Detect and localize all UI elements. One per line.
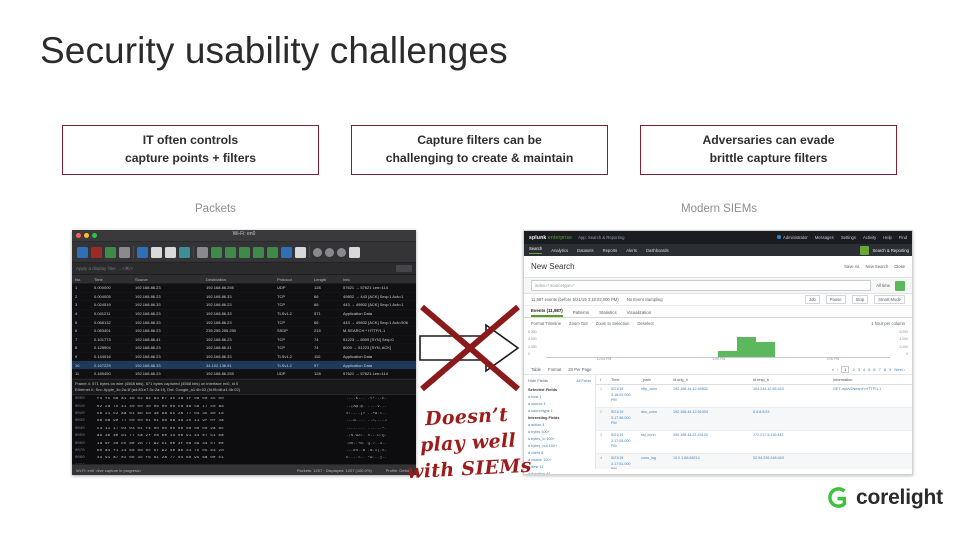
field-item[interactable]: # bytes_out 100+ bbox=[528, 443, 591, 450]
th-resp[interactable]: id.resp_h bbox=[749, 377, 829, 382]
chart-bar[interactable] bbox=[756, 342, 775, 357]
splunk-page-header: New Search Save As New Search Close bbox=[524, 256, 912, 278]
col-source[interactable]: Source bbox=[132, 277, 203, 282]
splunk-logo[interactable]: splunk enterprise bbox=[529, 235, 572, 241]
col-length[interactable]: Length bbox=[311, 277, 340, 282]
tab-statistics[interactable]: Statistics bbox=[599, 310, 617, 317]
field-item[interactable]: a duration 44 bbox=[528, 471, 591, 475]
hex-row: 0040c3 11 17 03 03 01 f4 00 00 00 00 00 … bbox=[72, 425, 416, 432]
packet-len: 97 bbox=[311, 363, 340, 368]
y-tick: 2,000 bbox=[900, 345, 909, 349]
y-tick: 0 bbox=[906, 352, 908, 356]
packet-src: 192.168.86.23 bbox=[132, 371, 203, 376]
packet-info: Application Data bbox=[340, 354, 416, 359]
all-fields-button[interactable]: All Fields bbox=[576, 379, 591, 383]
toolbar-separator bbox=[309, 246, 310, 258]
cell-index: 1 bbox=[596, 387, 607, 407]
page-1[interactable]: 1 bbox=[841, 366, 849, 373]
event-sampling[interactable]: No Event Sampling bbox=[627, 297, 663, 302]
hex-offset: 0060 bbox=[72, 442, 97, 446]
hex-row: 0070b0 a4 f1 23 68 dd 0c 57 92 4e ab 31 … bbox=[72, 447, 416, 454]
tab-visualization[interactable]: Visualization bbox=[627, 310, 652, 317]
field-item[interactable]: a source 1 bbox=[528, 401, 591, 408]
job-button[interactable]: Job bbox=[805, 295, 820, 304]
hex-bytes: a9 3b 4e d1 77 5a 2f c8 6e 14 0b 91 44 e… bbox=[97, 434, 346, 438]
chart-y-axis-right: 6,000 4,000 2,000 0 bbox=[900, 330, 909, 356]
close-file-icon[interactable] bbox=[165, 247, 176, 258]
wireshark-status-bar: Wi-Fi: en0 <live capture in progress> Pa… bbox=[72, 464, 416, 475]
cell-index: 3 bbox=[596, 433, 607, 453]
open-file-icon[interactable] bbox=[137, 247, 148, 258]
packet-len: 74 bbox=[311, 337, 340, 342]
colorize-icon[interactable] bbox=[295, 247, 306, 258]
tab-events[interactable]: Events (11,987) bbox=[531, 308, 563, 317]
cell-orig[interactable]: 192.168.44.12:49832 bbox=[669, 387, 749, 407]
format-results-button[interactable]: Format bbox=[548, 367, 561, 372]
packet-no: 9 bbox=[72, 354, 91, 359]
packet-dst: 192.168.86.23 bbox=[203, 302, 274, 307]
packet-dst: 34.102.136.91 bbox=[203, 363, 274, 368]
handwritten-note: Doesn’t play well with SIEMs bbox=[401, 401, 535, 486]
callout-box-2: Capture filters can be challenging to cr… bbox=[351, 125, 608, 175]
callout-box-3-line2: brittle capture filters bbox=[710, 151, 828, 165]
splunk-fields-sidebar: Hide Fields All Fields Selected Fields a… bbox=[524, 375, 596, 469]
hex-bytes: b0 a4 f1 23 68 dd 0c 57 92 4e ab 31 7c 0… bbox=[97, 449, 346, 453]
stop-capture-icon[interactable] bbox=[91, 247, 102, 258]
page-first[interactable]: « bbox=[832, 367, 834, 372]
callout-box-2-line2: challenging to create & maintain bbox=[386, 151, 574, 165]
cell-index: 2 bbox=[596, 410, 607, 430]
close-button[interactable]: Close bbox=[894, 264, 905, 269]
packet-no: 5 bbox=[72, 320, 91, 325]
th-path[interactable]: _path bbox=[637, 377, 669, 382]
th-index: i bbox=[596, 377, 607, 382]
nav-alerts[interactable]: Alerts bbox=[626, 248, 637, 253]
packet-no: 11 bbox=[72, 371, 91, 376]
packet-info: 443 → 49802 [ACK] Seq=1 Ack=506 bbox=[340, 320, 416, 325]
packet-src: 192.168.86.41 bbox=[132, 337, 203, 342]
x-tick: 12:00 PM bbox=[597, 357, 612, 361]
packet-no: 10 bbox=[72, 363, 91, 368]
hex-offset: 0010 bbox=[72, 405, 97, 409]
page-2[interactable]: 2 bbox=[852, 367, 854, 372]
zoom-reset-icon[interactable] bbox=[337, 248, 346, 257]
page-8[interactable]: 8 bbox=[884, 367, 886, 372]
table-row[interactable]: 2 5/21/19 3:17:58.000 PM dns_conn 192.16… bbox=[596, 408, 912, 431]
hex-row: 0000f4 f5 d8 a1 4b 02 a4 83 e7 3c 2a 1f … bbox=[72, 396, 416, 403]
page-9[interactable]: 9 bbox=[889, 367, 891, 372]
search-query-input[interactable]: index=* sourcetype=* bbox=[531, 280, 871, 291]
y-tick: 6,000 bbox=[528, 330, 537, 334]
cell-info[interactable]: GET /api/v2/search HTTP/1.1 bbox=[829, 387, 912, 407]
toolbar-separator bbox=[133, 246, 134, 258]
hex-ascii: ....K... .<*...E. bbox=[346, 397, 416, 401]
go-back-icon[interactable] bbox=[211, 247, 222, 258]
nav-reports[interactable]: Reports bbox=[603, 248, 618, 253]
splunk-job-controls: Job Pause Stop Smart Mode bbox=[805, 295, 905, 304]
user-menu[interactable]: Administrator bbox=[777, 235, 808, 240]
time-range-picker[interactable]: All time bbox=[876, 283, 890, 288]
event-count-summary: 11,987 events (before 5/21/19 3:18:02.00… bbox=[531, 297, 619, 302]
hex-row: 008044 91 a7 e2 0b 3c f6 81 2a 77 d4 b8 … bbox=[72, 455, 416, 462]
packet-src: 192.168.86.33 bbox=[132, 363, 203, 368]
cell-resp[interactable]: 104.244.42.65:443 bbox=[749, 387, 829, 407]
field-item[interactable]: a dest 12 bbox=[528, 464, 591, 471]
chart-x-axis: 12:00 PM 1:00 PM 2:00 PM bbox=[546, 357, 890, 361]
cell-resp[interactable]: 52.94.236.248:443 bbox=[749, 456, 829, 469]
packet-dst: 192.168.86.23 bbox=[203, 320, 274, 325]
y-tick: 4,000 bbox=[900, 337, 909, 341]
hex-offset: 0070 bbox=[72, 449, 97, 453]
splunk-results-body: Hide Fields All Fields Selected Fields a… bbox=[524, 375, 912, 469]
hex-row: 002056 21 c2 8a 01 bb 5d 3e 8a 91 2b 77 … bbox=[72, 410, 416, 417]
wireshark-display-filter-bar[interactable]: Apply a display filter ... <⌘/> bbox=[72, 263, 416, 275]
hex-offset: 0000 bbox=[72, 397, 97, 401]
splunk-events-table: i Time _path id.orig_h id.resp_h Informa… bbox=[596, 375, 912, 469]
settings-menu[interactable]: Settings bbox=[841, 235, 856, 240]
packet-row[interactable]: 2 0.004005 192.168.86.23 192.168.86.33 T… bbox=[72, 293, 416, 302]
packet-row[interactable]: 7 0.101773 192.168.86.41 192.168.86.23 T… bbox=[72, 336, 416, 345]
hex-offset: 0040 bbox=[72, 427, 97, 431]
packet-no: 1 bbox=[72, 285, 91, 290]
field-list: a host 1 a source 1 a sourcetype 1 Inter… bbox=[528, 394, 591, 475]
packet-proto: TLSv1.2 bbox=[274, 311, 311, 316]
packet-row[interactable]: 5 0.068132 192.168.86.33 192.168.86.23 T… bbox=[72, 318, 416, 327]
chart-y-axis-left: 6,000 4,000 2,000 0 bbox=[528, 330, 537, 356]
chart-bars bbox=[546, 331, 890, 357]
selected-fields-title: Selected Fields bbox=[528, 387, 591, 392]
packet-time: 0.024519 bbox=[91, 302, 132, 307]
packet-info: 57621 → 57621 Len=114 bbox=[340, 285, 416, 290]
go-last-packet-icon[interactable] bbox=[267, 247, 278, 258]
field-group-title: Interesting Fields bbox=[528, 415, 591, 422]
packet-no: 8 bbox=[72, 345, 91, 350]
packet-info: 57621 → 57621 Len=114 bbox=[340, 371, 416, 376]
packet-dst: 192.168.86.33 bbox=[203, 311, 274, 316]
packet-row[interactable]: 8 0.128904 192.168.86.23 192.168.86.41 T… bbox=[72, 344, 416, 353]
packet-time: 0.189450 bbox=[91, 371, 132, 376]
run-search-button[interactable] bbox=[895, 281, 905, 291]
toolbar-separator bbox=[193, 246, 194, 258]
page-title: Security usability challenges bbox=[40, 30, 508, 72]
app-switcher-label: Search & Reporting bbox=[872, 248, 909, 253]
col-dest[interactable]: Destination bbox=[203, 277, 274, 282]
page-3[interactable]: 3 bbox=[858, 367, 860, 372]
packet-row[interactable]: 4 0.041211 192.168.86.23 192.168.86.33 T… bbox=[72, 310, 416, 319]
cell-path[interactable]: ssl_conn bbox=[637, 433, 669, 453]
hex-bytes: c3 11 17 03 03 01 f4 00 00 00 00 00 00 0… bbox=[97, 427, 346, 431]
cell-info[interactable] bbox=[829, 456, 912, 469]
cell-time[interactable]: 5/21/19 3:17:55.000 PM bbox=[607, 433, 637, 453]
new-search-button[interactable]: New Search bbox=[865, 264, 888, 269]
hex-bytes: 1d 6f 30 cc 8e 2b 77 a2 51 0e 3f 08 d9 3… bbox=[97, 442, 346, 446]
zoom-to-selection-button[interactable]: Zoom to Selection bbox=[596, 321, 630, 326]
nav-search[interactable]: Search bbox=[529, 246, 542, 254]
packet-no: 2 bbox=[72, 294, 91, 299]
packet-info: 443 → 49802 [ACK] Seq=1 Ack=1 bbox=[340, 302, 416, 307]
table-row[interactable]: 4 5/21/19 3:17:51.000 PM conn_log 10.0.1… bbox=[596, 454, 912, 469]
find-packet-icon[interactable] bbox=[197, 247, 208, 258]
hex-bytes: 02 2d 7c 41 40 00 40 06 00 00 c0 a8 56 1… bbox=[97, 405, 346, 409]
nav-datasets[interactable]: Datasets bbox=[577, 248, 594, 253]
cell-time[interactable]: 5/21/19 3:17:58.000 PM bbox=[607, 410, 637, 430]
list-view-button[interactable]: Table bbox=[531, 367, 541, 372]
smart-mode-button[interactable]: Smart Mode bbox=[874, 295, 905, 304]
packet-src: 192.168.86.23 bbox=[132, 345, 203, 350]
field-item[interactable]: a cookie 100+ bbox=[528, 457, 591, 464]
go-forward-icon[interactable] bbox=[225, 247, 236, 258]
search-query-value: index=* sourcetype=* bbox=[535, 283, 575, 288]
packet-src: 192.168.86.23 bbox=[132, 354, 203, 359]
packet-proto: TCP bbox=[274, 294, 311, 299]
packet-time: 0.144016 bbox=[91, 354, 132, 359]
x-tick: 1:00 PM bbox=[713, 357, 726, 361]
hex-bytes: f4 f5 d8 a1 4b 02 a4 83 e7 3c 2a 1f 08 0… bbox=[97, 397, 346, 401]
find-menu[interactable]: Find bbox=[899, 235, 907, 240]
packet-time: 0.083401 bbox=[91, 328, 132, 333]
page-prev[interactable]: ‹ bbox=[837, 367, 838, 372]
page-next[interactable]: Next › bbox=[894, 367, 905, 372]
y-tick: 6,000 bbox=[900, 330, 909, 334]
cell-index: 4 bbox=[596, 456, 607, 469]
packet-dst: 192.168.86.255 bbox=[203, 285, 274, 290]
hex-row: 003008 0a 9e 77 00 00 01 01 08 0a 3d 2c … bbox=[72, 418, 416, 425]
packet-len: 66 bbox=[311, 320, 340, 325]
hex-row: 0050a9 3b 4e d1 77 5a 2f c8 6e 14 0b 91 … bbox=[72, 432, 416, 439]
y-tick: 4,000 bbox=[528, 337, 537, 341]
packet-bytes-pane[interactable]: 0000f4 f5 d8 a1 4b 02 a4 83 e7 3c 2a 1f … bbox=[72, 395, 416, 475]
corelight-wordmark: corelight bbox=[856, 487, 943, 508]
page-6[interactable]: 6 bbox=[873, 367, 875, 372]
th-orig[interactable]: id.orig_h bbox=[669, 377, 749, 382]
field-item[interactable]: a client 8 bbox=[528, 450, 591, 457]
format-timeline-button[interactable]: Format Timeline bbox=[531, 321, 561, 326]
packet-detail-pane[interactable]: Frame 4: 571 bytes on wire (4568 bits), … bbox=[72, 379, 416, 395]
packet-list-header: No. Time Source Destination Protocol Len… bbox=[72, 275, 416, 284]
packet-info: 49802 → 443 [ACK] Seq=1 Ack=1 bbox=[340, 294, 416, 299]
app-icon bbox=[860, 246, 869, 255]
packet-info: Application Data bbox=[340, 311, 416, 316]
corelight-logo: corelight bbox=[826, 486, 943, 509]
field-item[interactable]: # bytes_in 100+ bbox=[528, 436, 591, 443]
packet-dst: 192.168.86.255 bbox=[203, 371, 274, 376]
packet-time: 0.101773 bbox=[91, 337, 132, 342]
nav-analytics[interactable]: Analytics bbox=[551, 248, 568, 253]
packet-proto: TLSv1.2 bbox=[274, 354, 311, 359]
packet-time: 0.041211 bbox=[91, 311, 132, 316]
start-capture-icon[interactable] bbox=[77, 247, 88, 258]
hex-offset: 0030 bbox=[72, 419, 97, 423]
col-no[interactable]: No. bbox=[72, 277, 91, 282]
packet-src: 192.168.86.23 bbox=[132, 328, 203, 333]
packet-list[interactable]: 1 0.000000 192.168.86.23 192.168.86.255 … bbox=[72, 284, 416, 379]
cell-orig[interactable]: 192.168.44.31:44120 bbox=[669, 433, 749, 453]
cell-info[interactable] bbox=[829, 410, 912, 430]
table-row[interactable]: 3 5/21/19 3:17:55.000 PM ssl_conn 192.16… bbox=[596, 431, 912, 454]
hex-bytes: 56 21 c2 8a 01 bb 5d 3e 8a 91 2b 77 04 3… bbox=[97, 412, 346, 416]
status-capture-info: Wi-Fi: en0 <live capture in progress> bbox=[76, 468, 141, 473]
incompatibility-mark bbox=[414, 303, 526, 393]
cell-resp[interactable]: 172.217.5.110:443 bbox=[749, 433, 829, 453]
packet-proto: TCP bbox=[274, 337, 311, 342]
packet-len: 66 bbox=[311, 302, 340, 307]
packet-row[interactable]: 6 0.083401 192.168.86.23 239.255.255.250… bbox=[72, 327, 416, 336]
field-item[interactable]: a host 1 bbox=[528, 394, 591, 401]
field-item[interactable]: a action 4 bbox=[528, 422, 591, 429]
x-tick: 2:00 PM bbox=[827, 357, 840, 361]
cell-orig[interactable]: 192.168.44.12:51004 bbox=[669, 410, 749, 430]
packet-no: 7 bbox=[72, 337, 91, 342]
hex-bytes: 08 0a 9e 77 00 00 01 01 08 0a 3d 2c 11 9… bbox=[97, 419, 346, 423]
hex-offset: 0050 bbox=[72, 434, 97, 438]
zoom-in-icon[interactable] bbox=[313, 248, 322, 257]
splunk-top-bar: splunk enterprise App: Search & Reportin… bbox=[524, 231, 912, 244]
timeline-scale-label: 1 hour per column bbox=[871, 321, 905, 326]
user-avatar-icon bbox=[777, 235, 781, 239]
field-item[interactable]: # bytes 100+ bbox=[528, 429, 591, 436]
hex-offset: 0080 bbox=[72, 456, 97, 460]
cell-info[interactable] bbox=[829, 433, 912, 453]
status-packet-counts: Packets: 1207 · Displayed: 1207 (100.0%) bbox=[297, 468, 372, 473]
packet-row[interactable]: 1 0.000000 192.168.86.23 192.168.86.255 … bbox=[72, 284, 416, 293]
callout-box-1: IT often controls capture points + filte… bbox=[62, 125, 319, 175]
splunk-screenshot: splunk enterprise App: Search & Reportin… bbox=[523, 230, 913, 475]
deselect-button[interactable]: Deselect bbox=[637, 321, 653, 326]
packet-no: 3 bbox=[72, 302, 91, 307]
activity-menu[interactable]: Activity bbox=[863, 235, 876, 240]
help-menu[interactable]: Help bbox=[883, 235, 892, 240]
packet-dst: 192.168.86.41 bbox=[203, 345, 274, 350]
page-4[interactable]: 4 bbox=[863, 367, 865, 372]
packet-len: 571 bbox=[311, 311, 340, 316]
splunk-header-actions: Save As New Search Close bbox=[844, 264, 905, 269]
packet-detail-line[interactable]: Ethernet II, Src: Apple_3c:2a:1f (a4:83:… bbox=[75, 387, 413, 393]
packet-info: 8009 → 51223 [SYN, ACK] bbox=[340, 345, 416, 350]
packet-src: 192.168.86.33 bbox=[132, 320, 203, 325]
splunk-result-tabs: Events (11,987) Patterns Statistics Visu… bbox=[524, 306, 912, 318]
packet-len: 128 bbox=[311, 285, 340, 290]
splunk-results-pager: Table Format 20 Per Page « ‹ 1 2 3 4 5 6… bbox=[524, 364, 912, 375]
events-timeline-chart[interactable]: 6,000 4,000 2,000 0 6,000 4,000 2,000 0 … bbox=[524, 328, 912, 364]
col-time[interactable]: Time bbox=[91, 277, 132, 282]
packet-len: 74 bbox=[311, 345, 340, 350]
nav-dashboards[interactable]: Dashboards bbox=[646, 248, 669, 253]
packet-info: M-SEARCH * HTTP/1.1 bbox=[340, 328, 416, 333]
page-5[interactable]: 5 bbox=[868, 367, 870, 372]
wireshark-screenshot: Wi-Fi: en0 bbox=[72, 230, 416, 475]
cell-path[interactable]: conn_log bbox=[637, 456, 669, 469]
packet-no: 6 bbox=[72, 328, 91, 333]
capture-options-icon[interactable] bbox=[119, 247, 130, 258]
hide-fields-button[interactable]: Hide Fields bbox=[528, 378, 548, 383]
hex-bytes: 44 91 a7 e2 0b 3c f6 81 2a 77 d4 b8 95 6… bbox=[97, 456, 346, 460]
splunk-timeline-controls: Format Timeline Zoom Out Zoom to Selecti… bbox=[524, 318, 912, 328]
hex-row: 00601d 6f 30 cc 8e 2b 77 a2 51 0e 3f 08 … bbox=[72, 440, 416, 447]
reload-file-icon[interactable] bbox=[179, 247, 190, 258]
packet-proto: SSDP bbox=[274, 328, 311, 333]
th-info[interactable]: Information bbox=[829, 377, 912, 382]
caption-modern-siems: Modern SIEMs bbox=[681, 203, 757, 215]
packet-proto: UDP bbox=[274, 371, 311, 376]
cell-path[interactable]: dns_conn bbox=[637, 410, 669, 430]
packet-dst: 192.168.86.33 bbox=[203, 354, 274, 359]
save-file-icon[interactable] bbox=[151, 247, 162, 258]
page-7[interactable]: 7 bbox=[879, 367, 881, 372]
splunk-top-right-menu: Administrator Messages Settings Activity… bbox=[777, 235, 907, 240]
app-switcher-button[interactable]: Search & Reporting bbox=[860, 246, 909, 255]
pause-button[interactable]: Pause bbox=[826, 295, 846, 304]
packet-time: 0.004005 bbox=[91, 294, 132, 299]
auto-scroll-icon[interactable] bbox=[281, 247, 292, 258]
table-header-row: i Time _path id.orig_h id.resp_h Informa… bbox=[596, 375, 912, 385]
packet-proto: UDP bbox=[274, 285, 311, 290]
cell-path[interactable]: http_conn bbox=[637, 387, 669, 407]
per-page-button[interactable]: 20 Per Page bbox=[568, 367, 591, 372]
col-info[interactable]: Info bbox=[340, 277, 416, 282]
save-as-button[interactable]: Save As bbox=[844, 264, 859, 269]
callout-box-2-line1: Capture filters can be bbox=[417, 133, 542, 147]
packet-row[interactable]: 11 0.189450 192.168.86.23 192.168.86.255… bbox=[72, 370, 416, 379]
stop-button[interactable]: Stop bbox=[852, 295, 869, 304]
packet-len: 128 bbox=[311, 371, 340, 376]
y-tick: 0 bbox=[528, 352, 537, 356]
note-line-3: with SIEMs bbox=[404, 453, 535, 486]
go-first-packet-icon[interactable] bbox=[253, 247, 264, 258]
restart-capture-icon[interactable] bbox=[105, 247, 116, 258]
packet-time: 0.068132 bbox=[91, 320, 132, 325]
packet-info: Application Data bbox=[340, 363, 416, 368]
packet-len: 66 bbox=[311, 294, 340, 299]
packet-src: 192.168.86.23 bbox=[132, 294, 203, 299]
packet-src: 192.168.86.23 bbox=[132, 311, 203, 316]
packet-dst: 192.168.86.23 bbox=[203, 337, 274, 342]
cell-time[interactable]: 5/21/19 3:18:02.000 PM bbox=[607, 387, 637, 407]
corelight-mark-icon bbox=[826, 486, 849, 509]
callout-box-1-line1: IT often controls bbox=[143, 133, 238, 147]
packet-row[interactable]: 3 0.024519 192.168.86.33 192.168.86.23 T… bbox=[72, 301, 416, 310]
cell-time[interactable]: 5/21/19 3:17:51.000 PM bbox=[607, 456, 637, 469]
hex-offset: 0020 bbox=[72, 412, 97, 416]
col-protocol[interactable]: Protocol bbox=[274, 277, 311, 282]
packet-time: 0.167229 bbox=[91, 363, 132, 368]
th-time[interactable]: Time bbox=[607, 377, 637, 382]
cell-orig[interactable]: 10.0.1.88:58214 bbox=[669, 456, 749, 469]
packet-dst: 192.168.86.33 bbox=[203, 294, 274, 299]
packet-dst: 239.255.255.250 bbox=[203, 328, 274, 333]
field-item[interactable]: a sourcetype 1 bbox=[528, 408, 591, 415]
splunk-page-title: New Search bbox=[531, 262, 575, 271]
splunk-app-label[interactable]: App: Search & Reporting bbox=[578, 235, 624, 240]
messages-menu[interactable]: Messages bbox=[815, 235, 834, 240]
resize-columns-icon[interactable] bbox=[349, 247, 360, 258]
zoom-out-button[interactable]: Zoom Out bbox=[569, 321, 588, 326]
chart-plot-area bbox=[546, 331, 890, 358]
packet-row[interactable]: 9 0.144016 192.168.86.23 192.168.86.33 T… bbox=[72, 353, 416, 362]
cell-resp[interactable]: 8.8.8.8:53 bbox=[749, 410, 829, 430]
packet-proto: TLSv1.2 bbox=[274, 363, 311, 368]
filter-bookmark-button[interactable] bbox=[396, 265, 412, 272]
packet-proto: TCP bbox=[274, 302, 311, 307]
pagination: « ‹ 1 2 3 4 5 6 7 8 9 Next › bbox=[832, 366, 905, 373]
chart-bar[interactable] bbox=[737, 337, 756, 357]
display-filter-input[interactable]: Apply a display filter ... <⌘/> bbox=[76, 266, 133, 272]
go-to-packet-icon[interactable] bbox=[239, 247, 250, 258]
packet-time: 0.128904 bbox=[91, 345, 132, 350]
packet-row-selected[interactable]: 10 0.167229 192.168.86.33 34.102.136.91 … bbox=[72, 361, 416, 370]
zoom-out-icon[interactable] bbox=[325, 248, 334, 257]
table-row[interactable]: 1 5/21/19 3:18:02.000 PM http_conn 192.1… bbox=[596, 385, 912, 408]
tab-patterns[interactable]: Patterns bbox=[573, 310, 589, 317]
